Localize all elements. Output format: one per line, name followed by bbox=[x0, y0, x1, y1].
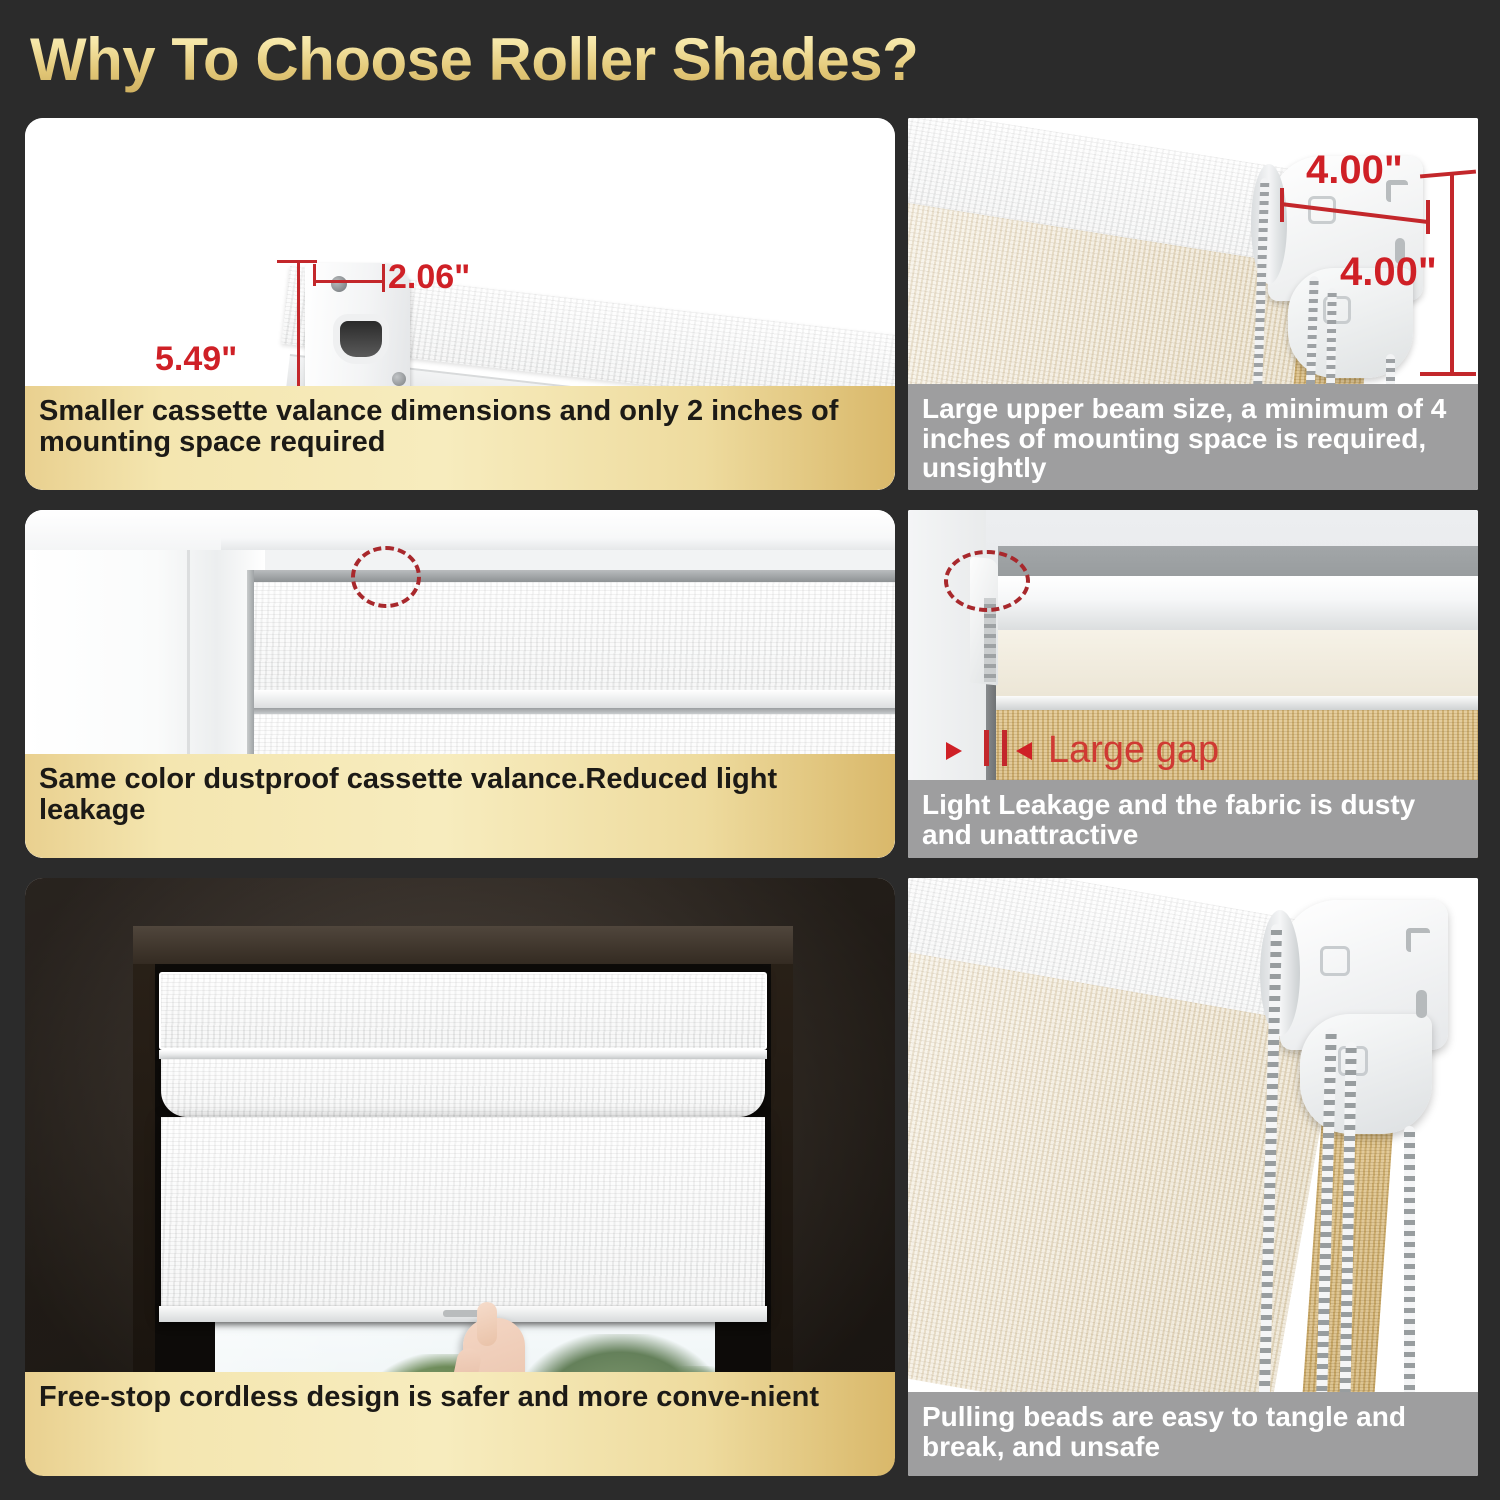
width-dimension-label: 2.06" bbox=[388, 258, 470, 297]
caption-smaller-cassette: Smaller cassette valance dimensions and … bbox=[25, 386, 895, 490]
large-gap-marker-right bbox=[1002, 730, 1007, 766]
roller-socket-icon bbox=[340, 321, 382, 357]
panel-pulling-beads: Pulling beads are easy to tangle and bre… bbox=[908, 878, 1478, 1476]
caption-large-upper-beam: Large upper beam size, a minimum of 4 in… bbox=[908, 384, 1478, 490]
cassette-bottom-lip bbox=[247, 690, 895, 708]
large-gap-label: Large gap bbox=[1048, 729, 1219, 772]
roller-tube bbox=[983, 576, 1478, 634]
beam-height-dim-line bbox=[1450, 172, 1454, 374]
hand-index-finger bbox=[477, 1302, 497, 1346]
light-leak-highlight-ring bbox=[944, 550, 1030, 612]
panel-dustproof-cassette: smaller gap Same color dustproof cassett… bbox=[25, 510, 895, 858]
mid-screw-icon bbox=[392, 372, 406, 386]
panel-smaller-cassette: 2.06" 5.49" Smaller cassette valance dim… bbox=[25, 118, 895, 490]
beam-height-tick-top bbox=[1420, 170, 1476, 179]
shade-fabric-panel bbox=[161, 1117, 765, 1315]
top-screw-icon bbox=[331, 276, 347, 292]
cassette-fabric-band bbox=[250, 582, 895, 692]
large-gap-arrow-left-icon bbox=[1016, 742, 1032, 760]
photo-bead-chain-shade bbox=[908, 878, 1478, 1476]
beam-width-tick-right bbox=[1426, 200, 1430, 234]
page-title: Why To Choose Roller Shades? bbox=[30, 20, 1230, 100]
cream-fabric-band bbox=[988, 630, 1478, 696]
cassette-seam-highlight-ring bbox=[351, 546, 421, 608]
beam-height-dimension-label: 4.00" bbox=[1340, 250, 1437, 295]
beam-width-tick-left bbox=[1280, 188, 1284, 222]
fabric-band-lower-edge bbox=[988, 696, 1478, 710]
caption-free-stop-cordless: Free-stop cordless design is safer and m… bbox=[25, 1372, 895, 1476]
large-gap-marker-left bbox=[984, 730, 989, 766]
beam-width-dimension-label: 4.00" bbox=[1306, 148, 1403, 193]
width-dim-tick-left bbox=[313, 264, 316, 286]
panel-light-leakage: Large gap Light Leakage and the fabric i… bbox=[908, 510, 1478, 858]
panel-large-upper-beam: 4.00" 4.00" Large upper beam size, a min… bbox=[908, 118, 1478, 490]
beam-height-tick-bottom bbox=[1420, 372, 1476, 376]
headrail-lower-roll bbox=[161, 1059, 765, 1117]
window-recess-top-lintel bbox=[133, 926, 793, 964]
beads-bracket-notch-icon bbox=[1416, 990, 1427, 1018]
headrail-cassette bbox=[159, 972, 767, 1050]
width-dim-tick-right bbox=[382, 264, 385, 292]
height-dimension-label: 5.49" bbox=[155, 340, 237, 379]
cassette-top-strip bbox=[247, 570, 895, 582]
beads-emblem-upper-icon bbox=[1320, 946, 1350, 976]
height-dim-tick-top bbox=[277, 260, 317, 263]
panel-free-stop-cordless: Free-stop cordless design is safer and m… bbox=[25, 878, 895, 1476]
caption-pulling-beads: Pulling beads are easy to tangle and bre… bbox=[908, 1392, 1478, 1476]
width-dim-line bbox=[313, 280, 385, 283]
headrail-separator bbox=[159, 1050, 767, 1059]
large-gap-arrow-right-icon bbox=[946, 742, 962, 760]
beads-bracket-slot-icon bbox=[1406, 928, 1430, 952]
window-frame-inner-edge bbox=[221, 538, 895, 550]
caption-dustproof-cassette: Same color dustproof cassette valance.Re… bbox=[25, 754, 895, 858]
caption-light-leakage: Light Leakage and the fabric is dusty an… bbox=[908, 780, 1478, 858]
